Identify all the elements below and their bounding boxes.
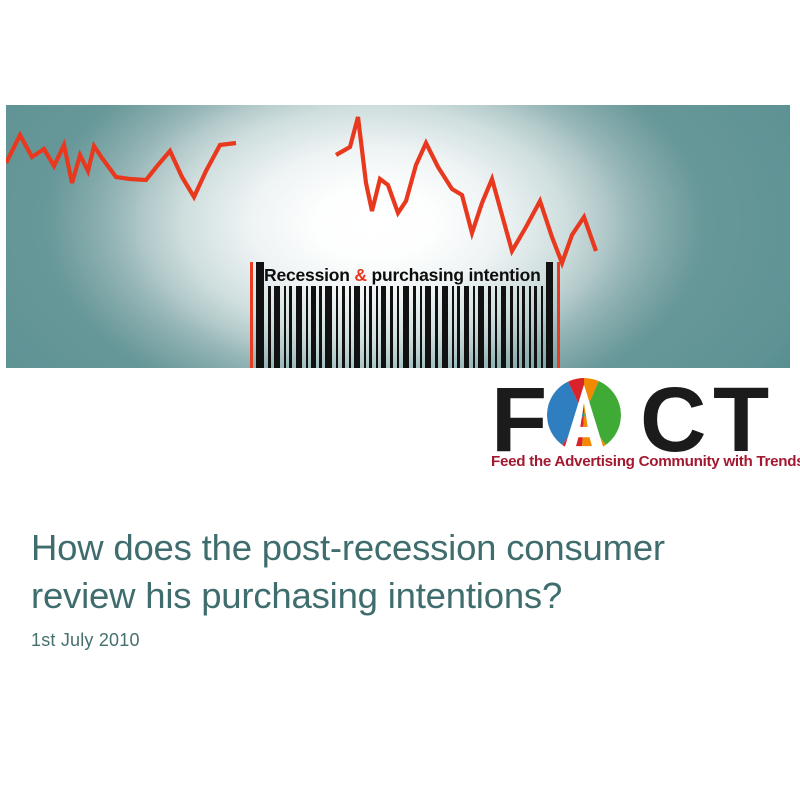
barcode-bars bbox=[246, 286, 564, 368]
barcode-bar bbox=[517, 286, 519, 368]
fact-tagline: Feed the Advertising Community with Tren… bbox=[491, 453, 800, 470]
barcode-bar bbox=[296, 286, 302, 368]
presentation-date: 1st July 2010 bbox=[31, 630, 140, 651]
barcode-bar bbox=[534, 286, 537, 368]
slide-canvas: Recession & purchasing intention F C T bbox=[0, 0, 800, 800]
fact-logo: F C T bbox=[489, 372, 791, 476]
barcode-bar bbox=[457, 286, 460, 368]
fact-wordmark: F C T bbox=[489, 372, 791, 452]
barcode-bar bbox=[442, 286, 448, 368]
barcode-bar bbox=[369, 286, 372, 368]
barcode-bar bbox=[546, 262, 553, 368]
barcode-bar bbox=[420, 286, 422, 368]
barcode-bar bbox=[435, 286, 438, 368]
barcode-bar bbox=[452, 286, 454, 368]
barcode-bar bbox=[289, 286, 292, 368]
trend-line-left-segment bbox=[6, 135, 236, 197]
barcode-bar bbox=[256, 262, 264, 368]
barcode-bar bbox=[541, 286, 543, 368]
barcode-bar bbox=[284, 286, 286, 368]
barcode-bar bbox=[478, 286, 484, 368]
barcode-bar bbox=[364, 286, 366, 368]
barcode-bar bbox=[510, 286, 513, 368]
page-title-line-2: review his purchasing intentions? bbox=[31, 572, 771, 620]
barcode-bar bbox=[381, 286, 386, 368]
barcode-bar bbox=[397, 286, 399, 368]
barcode-bar bbox=[354, 286, 360, 368]
hero-banner: Recession & purchasing intention bbox=[6, 105, 790, 368]
barcode-bar bbox=[319, 286, 322, 368]
fact-multicolor-a-icon bbox=[547, 378, 621, 452]
barcode-title-prefix: Recession bbox=[264, 265, 354, 285]
barcode-bar bbox=[390, 286, 393, 368]
barcode-bar bbox=[306, 286, 308, 368]
barcode-graphic: Recession & purchasing intention bbox=[246, 262, 564, 368]
barcode-bar bbox=[376, 286, 378, 368]
barcode-bar bbox=[311, 286, 316, 368]
barcode-bar bbox=[464, 286, 469, 368]
page-title: How does the post-recession consumer rev… bbox=[31, 524, 771, 620]
barcode-bar bbox=[342, 286, 345, 368]
barcode-bar bbox=[522, 286, 525, 368]
barcode-title-suffix: purchasing intention bbox=[367, 265, 541, 285]
barcode-bar bbox=[268, 286, 271, 368]
trend-line-right-segment bbox=[336, 117, 596, 263]
barcode-bar bbox=[488, 286, 491, 368]
barcode-bar bbox=[403, 286, 409, 368]
barcode-bar bbox=[325, 286, 332, 368]
barcode-title-ampersand: & bbox=[354, 265, 366, 285]
barcode-bar bbox=[274, 286, 280, 368]
barcode-bar bbox=[250, 262, 253, 368]
barcode-bar bbox=[495, 286, 497, 368]
page-title-line-1: How does the post-recession consumer bbox=[31, 524, 771, 572]
barcode-bar bbox=[336, 286, 338, 368]
barcode-bar bbox=[557, 262, 560, 368]
barcode-bar bbox=[349, 286, 351, 368]
barcode-bar bbox=[473, 286, 475, 368]
barcode-title: Recession & purchasing intention bbox=[264, 262, 541, 288]
barcode-bar bbox=[529, 286, 531, 368]
barcode-bar bbox=[425, 286, 431, 368]
barcode-bar bbox=[501, 286, 506, 368]
barcode-bar bbox=[413, 286, 416, 368]
